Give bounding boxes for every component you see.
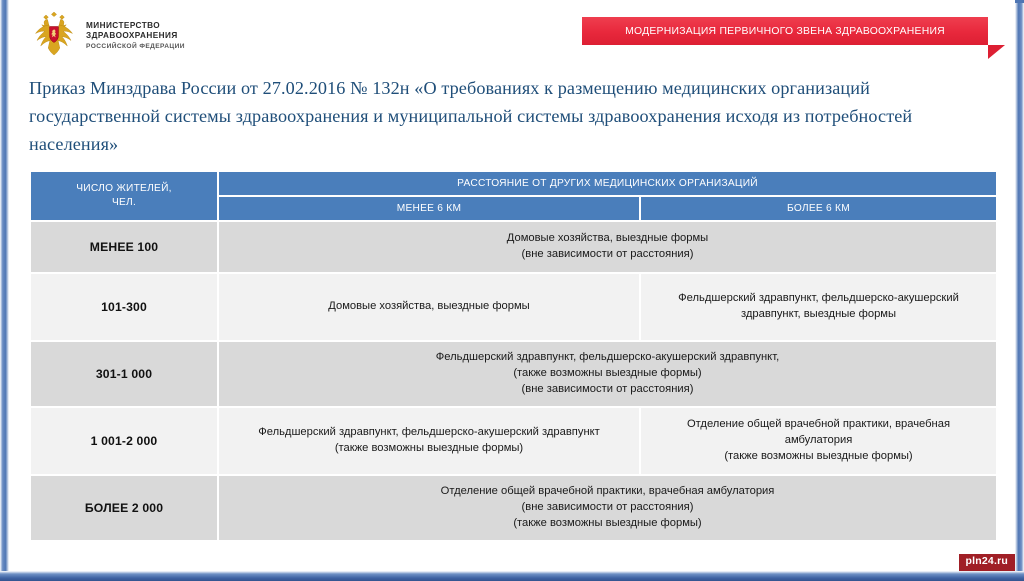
table-row: 101-300 Домовые хозяйства, выездные форм… xyxy=(31,274,996,340)
header-distance-more: БОЛЕЕ 6 КМ xyxy=(641,197,996,220)
row-merged-cell-1: Домовые хозяйства, выездные формы (вне з… xyxy=(219,222,996,272)
ministry-line-2: ЗДРАВООХРАНЕНИЯ xyxy=(86,31,185,42)
table-header-row-1: ЧИСЛО ЖИТЕЛЕЙ, ЧЕЛ. РАССТОЯНИЕ ОТ ДРУГИХ… xyxy=(31,172,996,195)
row-label-1: МЕНЕЕ 100 xyxy=(31,222,217,272)
slide-border-left xyxy=(0,0,9,581)
requirements-table: ЧИСЛО ЖИТЕЛЕЙ, ЧЕЛ. РАССТОЯНИЕ ОТ ДРУГИХ… xyxy=(29,170,998,542)
slide-border-bottom xyxy=(0,571,1024,581)
program-banner: МОДЕРНИЗАЦИЯ ПЕРВИЧНОГО ЗВЕНА ЗДРАВООХРА… xyxy=(582,17,988,45)
row-label-3: 301-1 000 xyxy=(31,342,217,406)
row-cell-less-4: Фельдшерский здравпункт, фельдшерско-аку… xyxy=(219,408,639,474)
row-cell-more-4: Отделение общей врачебной практики, врач… xyxy=(641,408,996,474)
table-body: МЕНЕЕ 100 Домовые хозяйства, выездные фо… xyxy=(31,222,996,540)
table-head: ЧИСЛО ЖИТЕЛЕЙ, ЧЕЛ. РАССТОЯНИЕ ОТ ДРУГИХ… xyxy=(31,172,996,220)
table-row: 1 001-2 000 Фельдшерский здравпункт, фел… xyxy=(31,408,996,474)
requirements-table-wrapper: ЧИСЛО ЖИТЕЛЕЙ, ЧЕЛ. РАССТОЯНИЕ ОТ ДРУГИХ… xyxy=(29,170,994,542)
russian-coat-of-arms-icon xyxy=(31,10,77,60)
row-label-4: 1 001-2 000 xyxy=(31,408,217,474)
ministry-line-3: РОССИЙСКОЙ ФЕДЕРАЦИИ xyxy=(86,43,185,51)
program-banner-label: МОДЕРНИЗАЦИЯ ПЕРВИЧНОГО ЗВЕНА ЗДРАВООХРА… xyxy=(625,26,945,37)
ministry-logo: МИНИСТЕРСТВО ЗДРАВООХРАНЕНИЯ РОССИЙСКОЙ … xyxy=(31,10,185,60)
table-row: БОЛЕЕ 2 000 Отделение общей врачебной пр… xyxy=(31,476,996,540)
table-row: 301-1 000 Фельдшерский здравпункт, фельд… xyxy=(31,342,996,406)
slide-header: МИНИСТЕРСТВО ЗДРАВООХРАНЕНИЯ РОССИЙСКОЙ … xyxy=(9,0,1015,62)
row-merged-cell-3: Фельдшерский здравпункт, фельдшерско-аку… xyxy=(219,342,996,406)
slide-border-right xyxy=(1015,0,1024,581)
slide-canvas: МИНИСТЕРСТВО ЗДРАВООХРАНЕНИЯ РОССИЙСКОЙ … xyxy=(0,0,1024,581)
slide-border-top-right xyxy=(1015,0,1024,3)
table-row: МЕНЕЕ 100 Домовые хозяйства, выездные фо… xyxy=(31,222,996,272)
row-label-5: БОЛЕЕ 2 000 xyxy=(31,476,217,540)
row-cell-less-2: Домовые хозяйства, выездные формы xyxy=(219,274,639,340)
source-watermark: pln24.ru xyxy=(959,554,1015,571)
row-merged-cell-5: Отделение общей врачебной практики, врач… xyxy=(219,476,996,540)
row-cell-more-2: Фельдшерский здравпункт, фельдшерско-аку… xyxy=(641,274,996,340)
header-population: ЧИСЛО ЖИТЕЛЕЙ, ЧЕЛ. xyxy=(31,172,217,220)
header-distance-less: МЕНЕЕ 6 КМ xyxy=(219,197,639,220)
ministry-logo-text: МИНИСТЕРСТВО ЗДРАВООХРАНЕНИЯ РОССИЙСКОЙ … xyxy=(86,19,185,51)
page-title: Приказ Минздрава России от 27.02.2016 № … xyxy=(29,75,981,159)
ministry-line-1: МИНИСТЕРСТВО xyxy=(86,21,185,32)
header-distance-group: РАССТОЯНИЕ ОТ ДРУГИХ МЕДИЦИНСКИХ ОРГАНИЗ… xyxy=(219,172,996,195)
row-label-2: 101-300 xyxy=(31,274,217,340)
banner-fold-shape xyxy=(988,45,1005,59)
